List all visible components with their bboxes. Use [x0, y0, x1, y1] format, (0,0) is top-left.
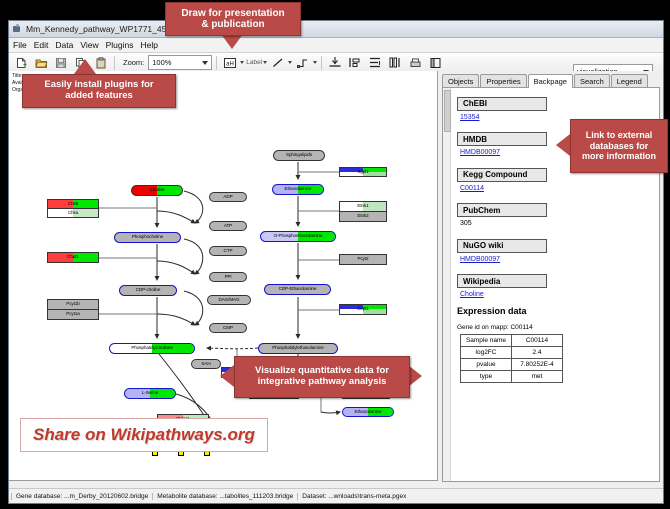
line-tool[interactable] — [269, 54, 292, 72]
cell-value: 2.4 — [512, 347, 563, 359]
node-label: Sphingolipids — [286, 153, 312, 158]
metabolite-node[interactable]: L-Serine — [124, 388, 176, 399]
gene-node[interactable]: Sgpl1 — [339, 167, 387, 177]
table-row: Sample name C00114 — [461, 335, 563, 347]
node-label: CMP — [223, 326, 233, 331]
metabolite-node[interactable]: CTP — [209, 246, 247, 256]
metabolite-node[interactable]: CMP — [209, 323, 247, 333]
zoom-value: 100% — [149, 58, 171, 67]
gene-node[interactable]: Pcyt1b — [47, 299, 99, 309]
zoom-label: Zoom: — [123, 58, 144, 67]
status-metabolite-database: Metabolite database: ...tabolites_111203… — [152, 493, 297, 500]
distribute-horizontal-icon[interactable] — [386, 54, 404, 72]
callout-plugins: Easily install plugins for added feature… — [22, 74, 176, 108]
line-icon[interactable] — [269, 54, 287, 72]
menu-view[interactable]: View — [80, 40, 98, 50]
metabolite-node[interactable]: ATP — [209, 221, 247, 231]
tab-legend[interactable]: Legend — [611, 74, 648, 87]
sidebar-toggle-icon[interactable] — [426, 54, 444, 72]
gene-node[interactable]: Etnk1 — [339, 201, 387, 211]
status-dataset: Dataset: ...wnloads\trans-meta.pgex — [297, 493, 410, 500]
cell-key: Sample name — [461, 335, 512, 347]
node-label: PPi — [225, 275, 232, 280]
node-label: Cept1 — [357, 307, 369, 312]
node-label: L-Serine — [142, 391, 159, 396]
label-tool-text: Label — [246, 59, 262, 66]
callout-draw-line2: & publication — [201, 19, 264, 31]
gene-id-line: Gene id on mapp: C00114 — [457, 324, 653, 331]
print-icon[interactable] — [406, 54, 424, 72]
metabolite-node[interactable]: Phosphocholine — [114, 232, 181, 243]
callout-plugins-arrow — [74, 59, 96, 74]
save-file-icon[interactable] — [52, 54, 70, 72]
svg-text:aH: aH — [226, 61, 234, 67]
node-label: Choline — [150, 188, 165, 193]
callout-share-text: Share on Wikipathways.org — [33, 425, 255, 444]
cell-value: 7.80252E-4 — [512, 359, 563, 371]
callout-visualize-line2: integrative pathway analysis — [258, 377, 387, 388]
node-label: CDP-Ethanolamine — [279, 287, 317, 292]
node-label: O-Phosphoethanolamine — [274, 234, 323, 239]
callout-share: Share on Wikipathways.org — [20, 418, 268, 452]
node-label: CDP-choline — [136, 288, 161, 293]
callout-links-line2: databases for — [590, 141, 649, 151]
node-label: Ethanolamine — [355, 410, 382, 415]
db-header-chebi: ChEBI — [457, 97, 547, 111]
metabolite-node[interactable]: CDP-choline — [119, 285, 177, 296]
db-value-pubchem: 305 — [460, 220, 653, 227]
db-header-nugowiki: NuGO wiki — [457, 239, 547, 253]
callout-links-line3: more information — [582, 151, 656, 161]
metabolite-node[interactable]: CDP-Ethanolamine — [264, 284, 331, 295]
status-gene-database: Gene database: ...m_Derby_20120602.bridg… — [11, 493, 152, 500]
db-header-wikipedia: Wikipedia — [457, 274, 547, 288]
align-left-icon[interactable] — [346, 54, 364, 72]
main-toolbar: Zoom: 100% aH Label — [9, 53, 663, 73]
db-header-pubchem: PubChem — [457, 203, 547, 217]
table-row: type met — [461, 371, 563, 383]
tab-properties[interactable]: Properties — [480, 74, 526, 87]
toolbar-separator — [114, 56, 115, 70]
callout-links-arrow — [556, 134, 570, 156]
gene-node[interactable]: Etnk2 — [339, 211, 387, 222]
metabolite-node[interactable]: Sphingolipids — [273, 150, 325, 161]
node-label: Chkb — [68, 202, 78, 207]
gene-node[interactable]: Chka — [47, 208, 99, 218]
callout-visualize-arrow-left — [220, 365, 234, 387]
metabolite-node[interactable]: Phosphatidylcholines — [109, 343, 195, 354]
callout-draw-arrow — [221, 34, 243, 49]
db-link-wikipedia[interactable]: Choline — [460, 291, 653, 298]
sidebar-scrollbar[interactable] — [443, 88, 451, 481]
gene-node[interactable]: Pcyt1a — [47, 309, 99, 320]
node-label: Etnk2 — [357, 214, 368, 219]
metabolite-node[interactable]: Phosphatidylethanolamine — [258, 343, 338, 354]
metabolite-node[interactable]: SAH — [191, 359, 221, 369]
callout-links-line1: Link to external — [586, 130, 653, 140]
screenshot-root: Mm_Kennedy_pathway_WP1771_45176.gpml Fil… — [0, 0, 670, 509]
datanode-tool[interactable]: aH — [221, 54, 244, 72]
metabolite-node[interactable]: O-Phosphoethanolamine — [260, 231, 336, 242]
metabolite-node[interactable]: DAG/MAG — [207, 295, 251, 305]
sidebar-tabs: Objects Properties Backpage Search Legen… — [442, 73, 660, 88]
cell-value: met — [512, 371, 563, 383]
node-label: Pcyt1a — [66, 312, 79, 317]
callout-visualize: Visualize quantitative data for integrat… — [234, 356, 410, 398]
node-label: Pcyt1b — [66, 302, 79, 307]
tab-backpage[interactable]: Backpage — [528, 74, 573, 88]
gene-node[interactable]: Cept1 — [339, 304, 387, 315]
menu-plugins[interactable]: Plugins — [106, 40, 134, 50]
scrollbar-thumb[interactable] — [444, 90, 451, 132]
node-label: Sgpl1 — [357, 170, 368, 175]
table-row: pvalue 7.80252E-4 — [461, 359, 563, 371]
callout-links: Link to external databases for more info… — [570, 119, 668, 173]
cell-value: C00114 — [512, 335, 563, 347]
distribute-vertical-icon[interactable] — [366, 54, 384, 72]
menu-file[interactable]: File — [13, 40, 27, 50]
label-tool[interactable]: Label — [246, 59, 267, 66]
cell-key: type — [461, 371, 512, 383]
node-label: Phosphatidylcholines — [131, 346, 172, 351]
node-label: Chpt1 — [67, 255, 79, 260]
metabolite-node[interactable]: PPi — [209, 272, 247, 282]
chevron-down-icon[interactable] — [313, 61, 317, 64]
toolbar-separator — [321, 56, 322, 70]
node-label: Phosphocholine — [132, 235, 163, 240]
align-top-icon[interactable] — [326, 54, 344, 72]
callout-draw-line1: Draw for presentation — [181, 8, 284, 20]
tab-search[interactable]: Search — [574, 74, 610, 87]
metabolite-node[interactable]: ADP — [209, 192, 247, 202]
metabolite-node[interactable]: Ethanolamine — [342, 407, 394, 417]
menu-help[interactable]: Help — [141, 40, 158, 50]
gene-node[interactable]: Chkb — [47, 199, 99, 208]
menubar: File Edit Data View Plugins Help — [9, 38, 663, 53]
db-link-nugowiki[interactable]: HMDB00097 — [460, 256, 653, 263]
menu-data[interactable]: Data — [55, 40, 73, 50]
datanode-icon[interactable]: aH — [221, 54, 239, 72]
tab-objects[interactable]: Objects — [442, 74, 479, 87]
node-label: Ethanolamine — [285, 187, 312, 192]
node-label: Pcyt2 — [358, 257, 369, 262]
new-file-icon[interactable] — [12, 54, 30, 72]
node-label: DAG/MAG — [219, 298, 240, 303]
expression-data-heading: Expression data — [457, 306, 653, 316]
node-label: ATP — [224, 224, 232, 229]
open-file-icon[interactable] — [32, 54, 50, 72]
node-label: SAH — [201, 362, 210, 367]
statusbar: Gene database: ...m_Derby_20120602.bridg… — [9, 488, 663, 503]
expression-table: Sample name C00114 log2FC 2.4 pvalue 7.8… — [460, 334, 563, 383]
zoom-combobox[interactable]: 100% — [148, 55, 212, 70]
window-titlebar: Mm_Kennedy_pathway_WP1771_45176.gpml — [9, 21, 663, 38]
connector-icon[interactable] — [294, 54, 312, 72]
cell-key: pvalue — [461, 359, 512, 371]
node-label: CTP — [224, 249, 233, 254]
callout-visualize-arrow-right — [408, 365, 422, 387]
callout-plugins-line2: added features — [65, 91, 133, 102]
app-icon — [12, 24, 22, 34]
chevron-down-icon[interactable] — [240, 61, 244, 64]
chevron-down-icon[interactable] — [263, 61, 267, 64]
toolbar-separator — [216, 56, 217, 70]
db-header-kegg: Kegg Compound — [457, 168, 547, 182]
node-label: Chka — [68, 211, 78, 216]
callout-draw: Draw for presentation & publication — [165, 2, 301, 36]
metabolite-node[interactable]: Choline — [131, 185, 183, 196]
metabolite-node[interactable]: Ethanolamine — [272, 184, 324, 195]
gene-node[interactable]: Pcyt2 — [339, 254, 387, 265]
db-link-kegg[interactable]: C00114 — [460, 185, 653, 192]
node-label: ADP — [223, 195, 232, 200]
db-header-hmdb: HMDB — [457, 132, 547, 146]
shape-tool[interactable] — [294, 54, 317, 72]
node-label: Etnk1 — [357, 204, 368, 209]
chevron-down-icon — [202, 61, 208, 65]
table-row: log2FC 2.4 — [461, 347, 563, 359]
gene-node[interactable]: Chpt1 — [47, 252, 99, 263]
node-label: Phosphatidylethanolamine — [272, 346, 324, 351]
chevron-down-icon[interactable] — [288, 61, 292, 64]
cell-key: log2FC — [461, 347, 512, 359]
menu-edit[interactable]: Edit — [34, 40, 49, 50]
